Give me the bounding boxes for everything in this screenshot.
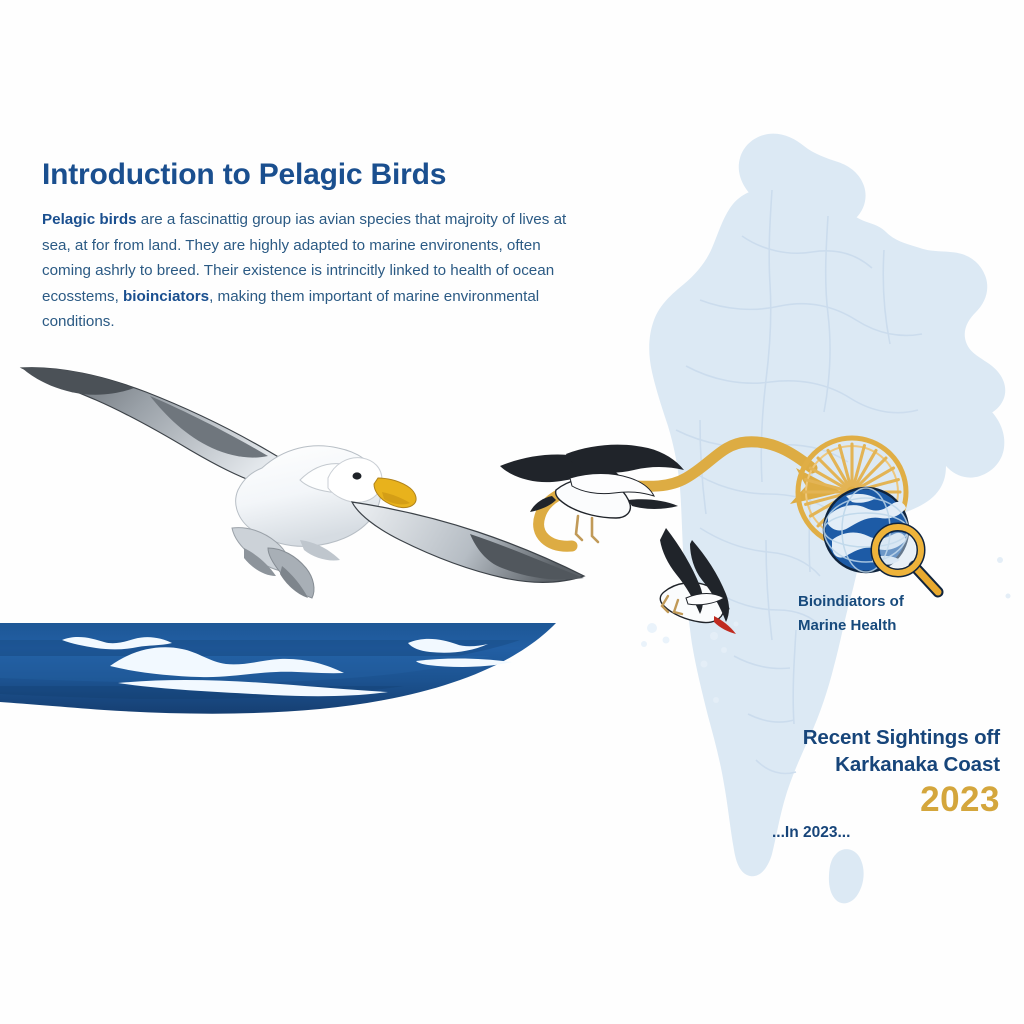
- intro-emphasis-bold: bioinciators: [123, 288, 209, 305]
- sightings-year: 2023: [700, 780, 1000, 820]
- page-title: Introduction to Pelagic Birds: [42, 158, 446, 192]
- sightings-title-line-2: Karkanaka Coast: [700, 751, 1000, 778]
- globe-caption-line-1: Bioindiators of: [798, 590, 1018, 614]
- globe-badge-caption: Bioindiators of Marine Health: [798, 590, 1018, 638]
- intro-lead-bold: Pelagic birds: [42, 211, 137, 228]
- intro-paragraph: Pelagic birds are a fascinattig group ia…: [42, 207, 572, 335]
- sightings-title-line-1: Recent Sightings off: [700, 724, 1000, 751]
- albatross-illustration: [0, 0, 1024, 1024]
- sightings-note: ...In 2023...: [772, 824, 850, 842]
- recent-sightings-block: Recent Sightings off Karkanaka Coast 202…: [700, 724, 1000, 820]
- globe-caption-line-2: Marine Health: [798, 614, 1018, 638]
- infographic-canvas: Introduction to Pelagic Birds Pelagic bi…: [0, 0, 1024, 1024]
